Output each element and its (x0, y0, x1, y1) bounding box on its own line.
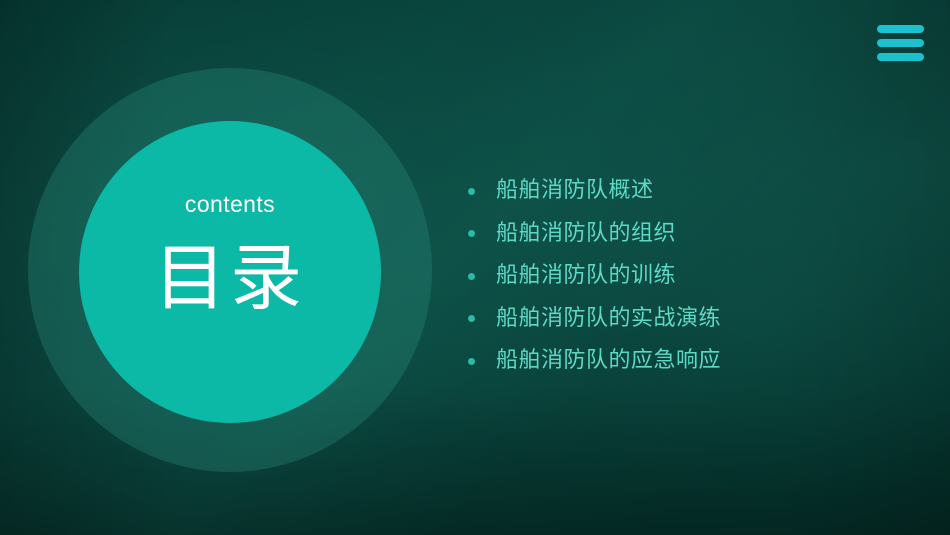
menu-bar-bottom (877, 53, 924, 61)
list-item[interactable]: 船舶消防队的应急响应 (468, 340, 721, 383)
hamburger-menu-icon[interactable] (877, 25, 924, 61)
contents-title: 目录 (154, 242, 306, 314)
list-item-label: 船舶消防队概述 (496, 179, 654, 203)
bullet-icon (468, 315, 475, 322)
contents-eyebrow-label: contents (185, 193, 275, 216)
menu-bar-top (877, 25, 924, 33)
list-item-label: 船舶消防队的实战演练 (496, 307, 721, 331)
contents-circle: contents 目录 (79, 121, 381, 423)
list-item[interactable]: 船舶消防队概述 (468, 170, 721, 213)
bullet-icon (468, 273, 475, 280)
list-item[interactable]: 船舶消防队的实战演练 (468, 298, 721, 341)
menu-bar-middle (877, 39, 924, 47)
list-item-label: 船舶消防队的训练 (496, 264, 676, 288)
bullet-icon (468, 230, 475, 237)
list-item[interactable]: 船舶消防队的训练 (468, 255, 721, 298)
list-item-label: 船舶消防队的应急响应 (496, 349, 721, 373)
slide-canvas: contents 目录 船舶消防队概述 船舶消防队的组织 船舶消防队的训练 船舶… (0, 0, 950, 535)
list-item-label: 船舶消防队的组织 (496, 222, 676, 246)
table-of-contents-list: 船舶消防队概述 船舶消防队的组织 船舶消防队的训练 船舶消防队的实战演练 船舶消… (468, 170, 721, 383)
bullet-icon (468, 188, 475, 195)
list-item[interactable]: 船舶消防队的组织 (468, 213, 721, 256)
bullet-icon (468, 358, 475, 365)
